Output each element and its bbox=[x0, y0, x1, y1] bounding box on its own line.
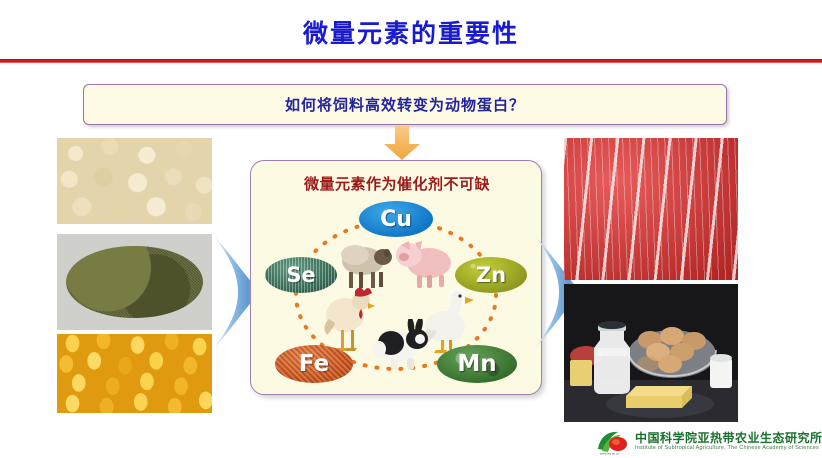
element-zn: Zn bbox=[455, 257, 527, 293]
dairy-eggs-illustration bbox=[564, 284, 738, 422]
trace-elements-panel: 微量元素作为催化剂不可缺 bbox=[250, 160, 542, 395]
question-banner: 如何将饲料高效转变为动物蛋白？ bbox=[83, 84, 727, 125]
page-title: 微量元素的重要性 bbox=[0, 14, 822, 50]
footer-org-en: Institute of Subtropical Agriculture, Th… bbox=[635, 446, 822, 452]
marbled-meat-texture bbox=[564, 138, 738, 280]
title-divider bbox=[0, 59, 822, 63]
element-fe: Fe bbox=[275, 345, 353, 383]
footer-org-cn: 中国科学院亚热带农业生态研究所 bbox=[635, 432, 822, 445]
marbled-meat-photo bbox=[564, 138, 738, 280]
soybeans-texture bbox=[57, 138, 212, 224]
isa-cas-logo-icon: www.isa.ac.cn bbox=[596, 429, 630, 455]
pig-image bbox=[395, 233, 457, 289]
footer-logo: www.isa.ac.cn 中国科学院亚热带农业生态研究所 Institute … bbox=[596, 428, 820, 456]
corn-photo bbox=[57, 334, 212, 413]
soybeans-photo bbox=[57, 138, 212, 224]
feed-ingredients-column bbox=[57, 138, 212, 413]
center-panel-title: 微量元素作为催化剂不可缺 bbox=[251, 173, 543, 194]
dairy-eggs-texture bbox=[564, 284, 738, 422]
animal-protein-column bbox=[564, 138, 738, 422]
sheep-image bbox=[333, 239, 397, 291]
dairy-eggs-photo bbox=[564, 284, 738, 422]
footer-logo-text: 中国科学院亚热带农业生态研究所 Institute of Subtropical… bbox=[635, 432, 822, 451]
rabbit-image bbox=[371, 319, 433, 373]
element-se: Se bbox=[265, 257, 337, 293]
corn-texture bbox=[57, 334, 212, 413]
meal-pile-shape bbox=[66, 246, 202, 319]
svg-text:www.isa.ac.cn: www.isa.ac.cn bbox=[600, 452, 619, 456]
element-mn: Mn bbox=[437, 345, 517, 383]
green-meal-texture bbox=[57, 234, 212, 330]
down-arrow-icon bbox=[383, 126, 421, 161]
element-ring-area: Cu Se Zn Fe Mn bbox=[259, 199, 535, 389]
question-banner-text: 如何将饲料高效转变为动物蛋白？ bbox=[285, 94, 525, 115]
green-meal-photo bbox=[57, 234, 212, 330]
element-cu: Cu bbox=[359, 201, 433, 237]
